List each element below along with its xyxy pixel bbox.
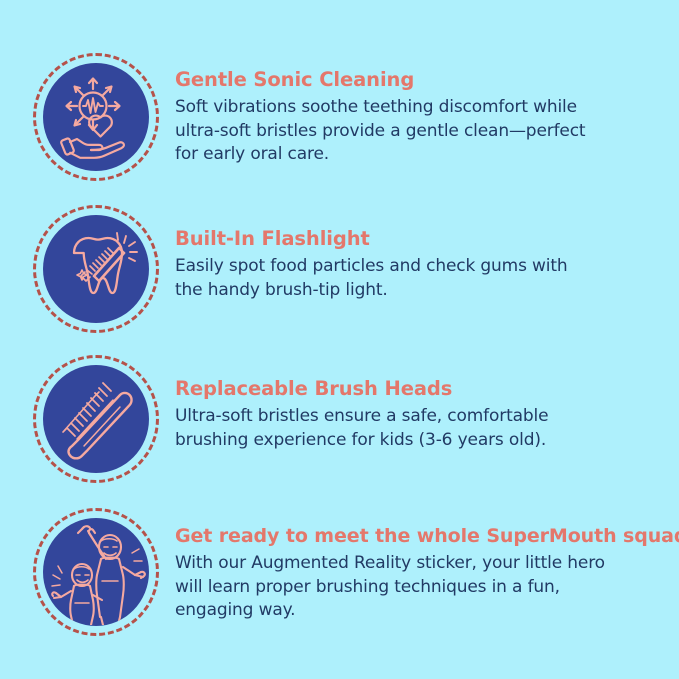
feature-description: Soft vibrations soothe teething discomfo… xyxy=(175,96,665,167)
feature-description: With our Augmented Reality sticker, your… xyxy=(175,552,679,623)
feature-title: Replaceable Brush Heads xyxy=(175,377,665,401)
feature-item: Replaceable Brush Heads Ultra-soft brist… xyxy=(0,355,679,483)
flashlight-tooth-icon xyxy=(33,205,159,333)
replaceable-brush-head-icon xyxy=(33,355,159,483)
feature-description: Easily spot food particles and check gum… xyxy=(175,255,665,302)
icon-disc xyxy=(43,63,149,171)
sonic-cleaning-icon xyxy=(33,53,159,181)
feature-item: Built-In Flashlight Easily spot food par… xyxy=(0,205,679,333)
description-line: will learn proper brushing techniques in… xyxy=(175,576,679,600)
feature-item: Gentle Sonic Cleaning Soft vibrations so… xyxy=(0,53,679,181)
feature-text: Get ready to meet the whole SuperMouth s… xyxy=(159,508,679,623)
icon-disc xyxy=(43,365,149,473)
description-line: for early oral care. xyxy=(175,143,665,167)
description-line: brushing experience for kids (3-6 years … xyxy=(175,429,665,453)
supermouth-squad-icon xyxy=(33,508,159,636)
description-line: With our Augmented Reality sticker, your… xyxy=(175,552,679,576)
feature-text: Built-In Flashlight Easily spot food par… xyxy=(159,205,679,302)
feature-item: Get ready to meet the whole SuperMouth s… xyxy=(0,508,679,636)
description-line: engaging way. xyxy=(175,599,679,623)
description-line: Easily spot food particles and check gum… xyxy=(175,255,665,279)
feature-list: Gentle Sonic Cleaning Soft vibrations so… xyxy=(0,0,679,679)
icon-disc xyxy=(43,215,149,323)
feature-text: Replaceable Brush Heads Ultra-soft brist… xyxy=(159,355,679,452)
feature-title: Built-In Flashlight xyxy=(175,227,665,251)
description-line: Ultra-soft bristles ensure a safe, comfo… xyxy=(175,405,665,429)
description-line: Soft vibrations soothe teething discomfo… xyxy=(175,96,665,120)
feature-title: Get ready to meet the whole SuperMouth s… xyxy=(175,524,679,548)
feature-title: Gentle Sonic Cleaning xyxy=(175,68,665,92)
feature-text: Gentle Sonic Cleaning Soft vibrations so… xyxy=(159,53,679,167)
feature-description: Ultra-soft bristles ensure a safe, comfo… xyxy=(175,405,665,452)
description-line: the handy brush-tip light. xyxy=(175,279,665,303)
description-line: ultra-soft bristles provide a gentle cle… xyxy=(175,120,665,144)
icon-disc xyxy=(43,518,149,626)
